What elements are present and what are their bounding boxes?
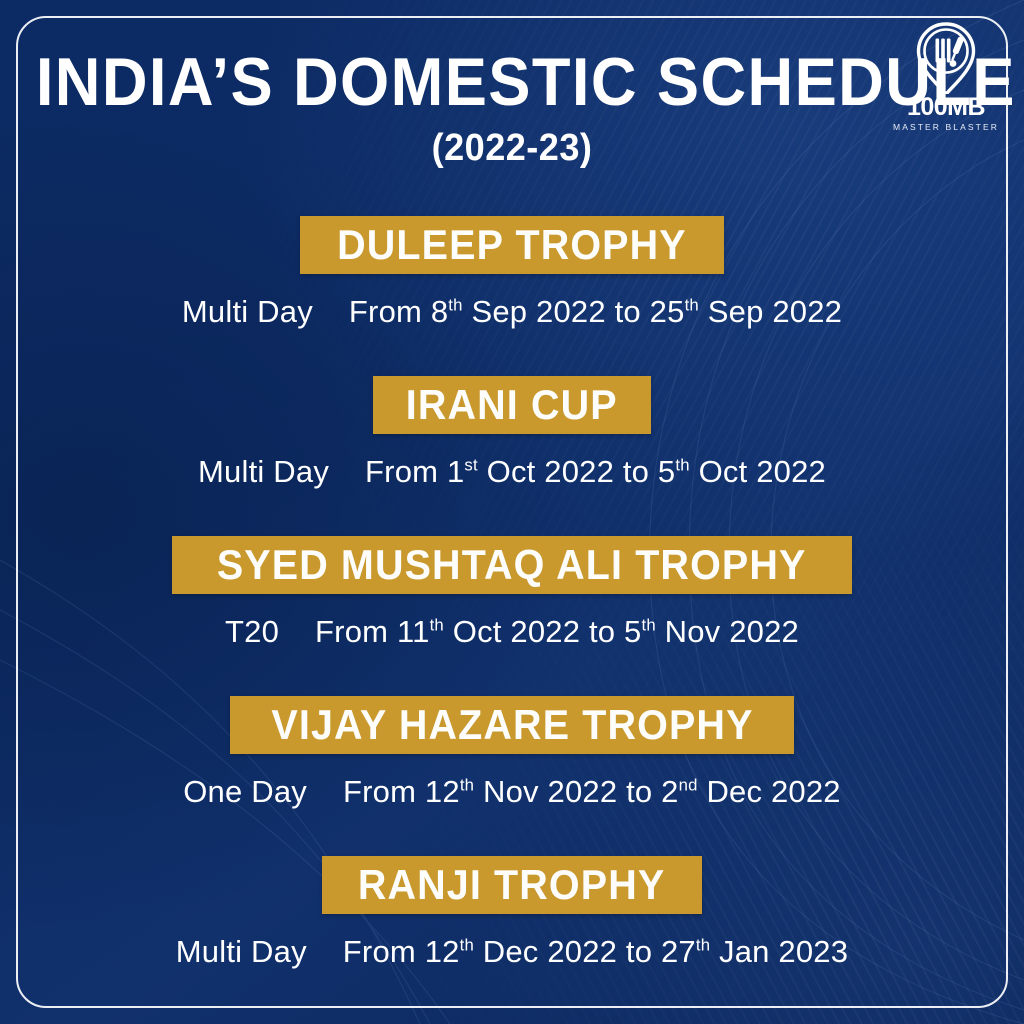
schedule-event: SYED MUSHTAQ ALI TROPHYT20From 11th Oct … bbox=[0, 536, 1024, 696]
event-details: One DayFrom 12th Nov 2022 to 2nd Dec 202… bbox=[183, 774, 841, 810]
event-format: Multi Day bbox=[176, 934, 307, 970]
tournament-name: VIJAY HAZARE TROPHY bbox=[271, 704, 753, 746]
schedule-event: RANJI TROPHYMulti DayFrom 12th Dec 2022 … bbox=[0, 856, 1024, 1016]
tournament-banner: SYED MUSHTAQ ALI TROPHY bbox=[172, 536, 851, 594]
poster-canvas: 100MB MASTER BLASTER INDIA’S DOMESTIC SC… bbox=[0, 0, 1024, 1024]
tournament-banner: VIJAY HAZARE TROPHY bbox=[230, 696, 795, 754]
event-dates: From 1st Oct 2022 to 5th Oct 2022 bbox=[365, 454, 826, 490]
event-details: Multi DayFrom 1st Oct 2022 to 5th Oct 20… bbox=[198, 454, 826, 490]
event-dates: From 8th Sep 2022 to 25th Sep 2022 bbox=[349, 294, 842, 330]
tournament-name: IRANI CUP bbox=[406, 384, 618, 426]
event-format: T20 bbox=[225, 614, 279, 650]
event-details: Multi DayFrom 8th Sep 2022 to 25th Sep 2… bbox=[182, 294, 842, 330]
event-format: Multi Day bbox=[182, 294, 313, 330]
event-dates: From 12th Nov 2022 to 2nd Dec 2022 bbox=[343, 774, 841, 810]
schedule-list: DULEEP TROPHYMulti DayFrom 8th Sep 2022 … bbox=[0, 216, 1024, 1016]
event-dates: From 11th Oct 2022 to 5th Nov 2022 bbox=[315, 614, 799, 650]
page-subtitle: (2022-23) bbox=[26, 127, 999, 170]
schedule-event: VIJAY HAZARE TROPHYOne DayFrom 12th Nov … bbox=[0, 696, 1024, 856]
event-dates: From 12th Dec 2022 to 27th Jan 2023 bbox=[343, 934, 848, 970]
tournament-name: DULEEP TROPHY bbox=[337, 224, 687, 266]
poster-header: INDIA’S DOMESTIC SCHEDULE (2022-23) bbox=[0, 48, 1024, 170]
tournament-banner: DULEEP TROPHY bbox=[300, 216, 724, 274]
event-details: Multi DayFrom 12th Dec 2022 to 27th Jan … bbox=[176, 934, 848, 970]
event-details: T20From 11th Oct 2022 to 5th Nov 2022 bbox=[225, 614, 799, 650]
event-format: One Day bbox=[183, 774, 307, 810]
tournament-name: RANJI TROPHY bbox=[358, 864, 665, 906]
tournament-name: SYED MUSHTAQ ALI TROPHY bbox=[217, 544, 807, 586]
schedule-event: IRANI CUPMulti DayFrom 1st Oct 2022 to 5… bbox=[0, 376, 1024, 536]
event-format: Multi Day bbox=[198, 454, 329, 490]
tournament-banner: RANJI TROPHY bbox=[322, 856, 701, 914]
page-title: INDIA’S DOMESTIC SCHEDULE bbox=[36, 48, 988, 117]
schedule-event: DULEEP TROPHYMulti DayFrom 8th Sep 2022 … bbox=[0, 216, 1024, 376]
tournament-banner: IRANI CUP bbox=[373, 376, 650, 434]
